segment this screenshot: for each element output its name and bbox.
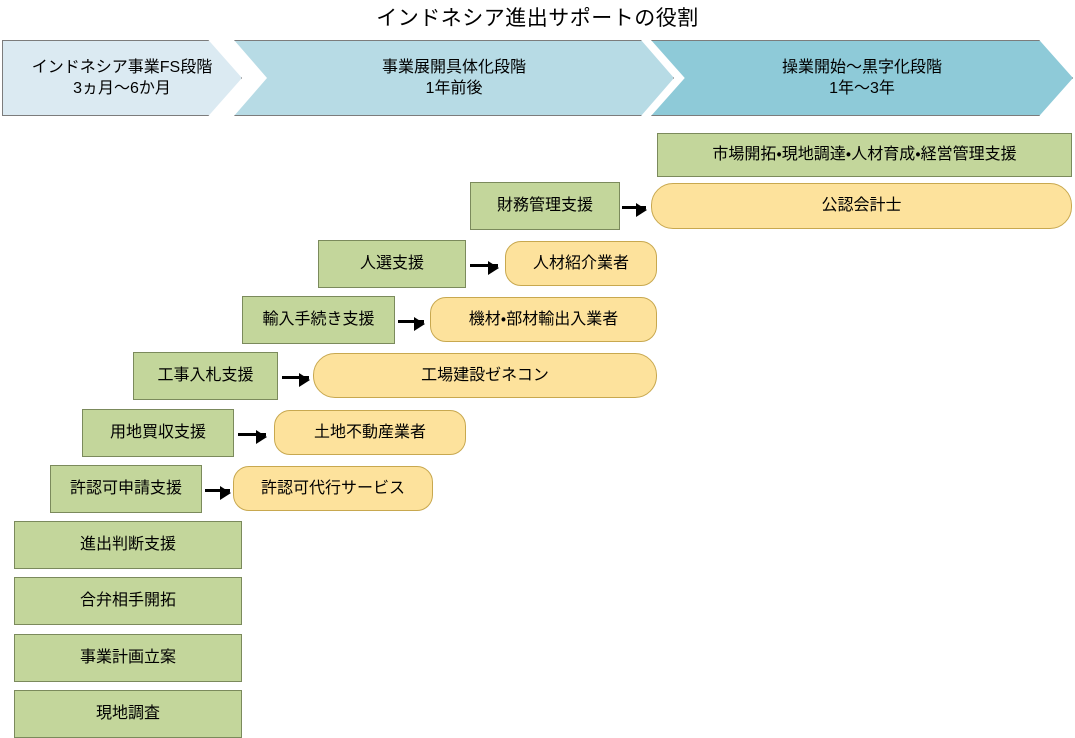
support-box-decision[interactable]: 進出判断支援 xyxy=(14,521,242,569)
page-title: インドネシア進出サポートの役割 xyxy=(0,2,1075,32)
arrow-recruiting xyxy=(470,264,498,267)
support-box-finance[interactable]: 財務管理支援 xyxy=(470,182,620,230)
partner-box-real-estate[interactable]: 土地不動産業者 xyxy=(274,410,466,455)
support-box-finance-label: 財務管理支援 xyxy=(497,196,593,215)
partner-box-permit-agency-label: 許認可代行サービス xyxy=(261,479,405,498)
partner-box-accountant[interactable]: 公認会計士 xyxy=(651,183,1072,229)
support-box-permit-label: 許認可申請支援 xyxy=(70,479,182,498)
arrow-finance xyxy=(622,206,646,209)
support-box-survey-label: 現地調査 xyxy=(96,704,160,723)
support-box-recruiting[interactable]: 人選支援 xyxy=(318,240,466,288)
support-box-recruiting-label: 人選支援 xyxy=(360,254,424,273)
support-box-jv-label: 合弁相手開拓 xyxy=(80,591,176,610)
partner-box-accountant-label: 公認会計士 xyxy=(821,196,901,215)
phase-banner-fs: インドネシア事業FS段階 3ヵ月〜6か月 xyxy=(2,40,242,116)
arrow-construction xyxy=(282,376,309,379)
phase-banner-operation-name: 操業開始〜黒字化段階 xyxy=(782,57,942,78)
support-box-plan-label: 事業計画立案 xyxy=(80,648,176,667)
partner-box-general-contractor-label: 工場建設ゼネコン xyxy=(421,366,549,385)
support-box-import[interactable]: 輸入手続き支援 xyxy=(242,296,395,344)
support-box-construction[interactable]: 工事入札支援 xyxy=(133,352,278,400)
arrow-import xyxy=(398,320,424,323)
partner-box-general-contractor[interactable]: 工場建設ゼネコン xyxy=(313,353,657,398)
partner-box-recruiting-agency-label: 人材紹介業者 xyxy=(533,254,629,273)
phase-banner-development-duration: 1年前後 xyxy=(426,78,483,99)
support-box-market-label: 市場開拓・現地調達・人材育成・経営管理支援 xyxy=(712,145,1016,164)
support-box-import-label: 輸入手続き支援 xyxy=(262,310,374,329)
support-box-permit[interactable]: 許認可申請支援 xyxy=(50,465,202,513)
phase-banner-operation-duration: 1年〜3年 xyxy=(829,78,895,99)
phase-banner-operation: 操業開始〜黒字化段階 1年〜3年 xyxy=(651,40,1073,116)
arrow-land xyxy=(238,433,266,436)
partner-box-real-estate-label: 土地不動産業者 xyxy=(314,423,426,442)
partner-box-import-export-label: 機材・部材輸出入業者 xyxy=(469,310,618,329)
arrow-permit xyxy=(205,489,230,492)
support-box-market[interactable]: 市場開拓・現地調達・人材育成・経営管理支援 xyxy=(657,133,1072,177)
support-box-land-label: 用地買収支援 xyxy=(110,423,206,442)
partner-box-import-export[interactable]: 機材・部材輸出入業者 xyxy=(430,297,657,342)
phase-banner-development-name: 事業展開具体化段階 xyxy=(382,57,526,78)
phase-banner-fs-duration: 3ヵ月〜6か月 xyxy=(73,78,171,99)
support-box-plan[interactable]: 事業計画立案 xyxy=(14,634,242,682)
partner-box-recruiting-agency[interactable]: 人材紹介業者 xyxy=(505,241,657,286)
phase-banner-development: 事業展開具体化段階 1年前後 xyxy=(234,40,674,116)
phase-banner-fs-name: インドネシア事業FS段階 xyxy=(32,57,212,78)
support-box-land[interactable]: 用地買収支援 xyxy=(82,409,234,457)
diagram-canvas: インドネシア進出サポートの役割 インドネシア事業FS段階 3ヵ月〜6か月 事業展… xyxy=(0,0,1075,738)
partner-box-permit-agency[interactable]: 許認可代行サービス xyxy=(233,466,433,511)
support-box-decision-label: 進出判断支援 xyxy=(80,535,176,554)
support-box-survey[interactable]: 現地調査 xyxy=(14,690,242,738)
support-box-jv[interactable]: 合弁相手開拓 xyxy=(14,577,242,625)
support-box-construction-label: 工事入札支援 xyxy=(157,366,253,385)
